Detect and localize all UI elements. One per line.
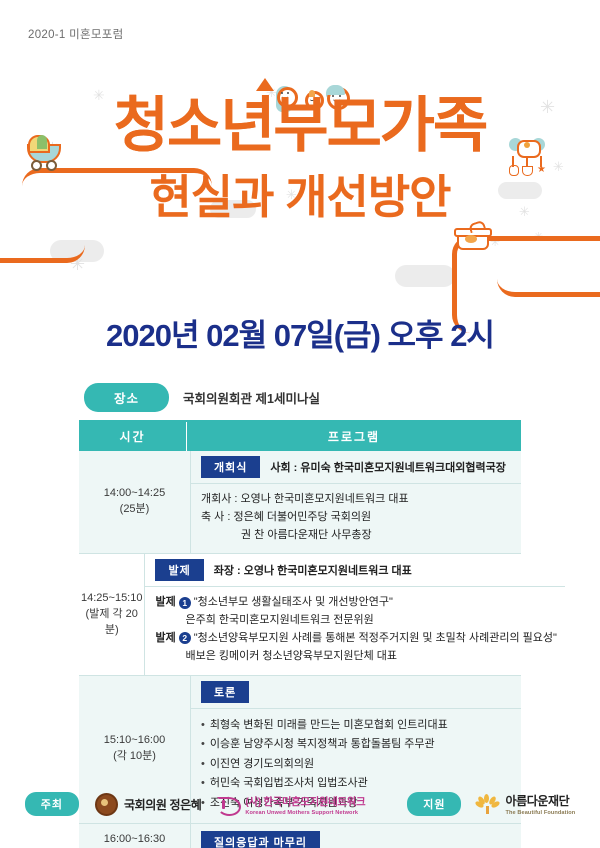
kicker-text: 2020-1 미혼모포럼 <box>28 26 124 42</box>
presentation-title: "청소년양육부모지원 사례를 통해본 적정주거지원 및 초밀착 사례관리의 필요… <box>194 632 557 644</box>
row-body: 발제1"청소년부모 생활실태조사 및 개선방안연구" 은주희 한국미혼모지원네트… <box>145 587 564 674</box>
presentation-line: 발제1"청소년부모 생활실태조사 및 개선방안연구" <box>155 594 556 612</box>
kumsn-logo-icon <box>217 795 239 814</box>
row-time: 14:00~14:25 (25분) <box>79 451 191 553</box>
row-program: 질의응답과 마무리 <box>191 824 521 848</box>
title-block: 청소년부모가족 현실과 개선방안 <box>0 96 600 220</box>
program-table: 시간 프로그램 14:00~14:25 (25분) 개회식 사회 : 유미숙 한… <box>79 420 521 848</box>
table-row: 14:00~14:25 (25분) 개회식 사회 : 유미숙 한국미혼모지원네트… <box>79 451 521 554</box>
row-body: 개회사 : 오영나 한국미혼모지원네트워크 대표 축 사 : 정은혜 더불어민주… <box>191 484 521 553</box>
band-text: 사회 : 유미숙 한국미혼모지원네트워크대외협력국장 <box>270 459 505 475</box>
header-time: 시간 <box>79 422 186 451</box>
host-name-2: (사) 한국미혼모지원네트워크 <box>245 796 365 808</box>
support-label: 지원 <box>407 792 461 816</box>
program-line: 개회사 : 오영나 한국미혼모지원네트워크 대표 <box>201 491 513 509</box>
row-time-duration: (발제 각 20분) <box>81 607 142 639</box>
status-badge: 토론 <box>201 681 249 703</box>
row-time-duration: (25분) <box>120 502 150 518</box>
support-name-1-sub: The Beautiful Foundation <box>505 810 575 816</box>
presenter-line: 은주희 한국미혼모지원네트워크 전문위원 <box>155 612 556 630</box>
host-logo-jeong: 국회의원 정은혜 <box>95 793 201 816</box>
row-band: 토론 <box>191 676 521 709</box>
table-row: 14:25~15:10 (발제 각 20분) 발제 좌장 : 오영나 한국미혼모… <box>79 554 521 675</box>
host-logo-kumsn: (사) 한국미혼모지원네트워크 Korean Unwed Mothers Sup… <box>217 792 365 816</box>
presentation-line: 발제2"청소년양육부모지원 사례를 통해본 적정주거지원 및 초밀착 사례관리의… <box>155 630 556 648</box>
row-program: 개회식 사회 : 유미숙 한국미혼모지원네트워크대외협력국장 개회사 : 오영나… <box>191 451 521 553</box>
host-name-2-sub: Korean Unwed Mothers Support Network <box>245 810 365 816</box>
row-time-range: 15:10~16:00 <box>104 733 165 749</box>
host-name-2-block: (사) 한국미혼모지원네트워크 Korean Unwed Mothers Sup… <box>245 792 365 816</box>
presentation-label: 발제 <box>155 596 175 608</box>
presentation-title: "청소년부모 생활실태조사 및 개선방안연구" <box>194 596 393 608</box>
support-name-1: 아름다운재단 <box>505 794 569 808</box>
presentation-label: 발제 <box>155 632 175 644</box>
row-time-duration: (각 10분) <box>113 749 156 765</box>
page-title: 청소년부모가족 <box>0 96 600 156</box>
row-band: 발제 좌장 : 오영나 한국미혼모지원네트워크 대표 <box>145 554 564 587</box>
page-subtitle: 현실과 개선방안 <box>0 174 600 220</box>
venue-value: 국회의원회관 제1세미나실 <box>183 388 320 407</box>
header-program: 프로그램 <box>186 422 521 451</box>
cloud-decoration <box>395 265 455 287</box>
table-row: 16:00~16:30 (30분) 질의응답과 마무리 <box>79 824 521 848</box>
status-badge: 발제 <box>155 559 203 581</box>
presentation-number: 2 <box>179 632 191 644</box>
row-time: 14:25~15:10 (발제 각 20분) <box>79 554 145 674</box>
status-badge: 개회식 <box>201 456 260 478</box>
footer: 주최 국회의원 정은혜 (사) 한국미혼모지원네트워크 Korean Unwed… <box>0 792 600 816</box>
row-time: 16:00~16:30 (30분) <box>79 824 191 848</box>
row-band: 개회식 사회 : 유미숙 한국미혼모지원네트워크대외협력국장 <box>191 451 521 484</box>
host-name-1: 국회의원 정은혜 <box>124 796 201 813</box>
venue-row: 장소 국회의원회관 제1세미나실 <box>84 383 320 412</box>
support-logo-beautiful: 아름다운재단 The Beautiful Foundation <box>477 792 575 816</box>
band-text: 좌장 : 오영나 한국미혼모지원네트워크 대표 <box>214 562 412 578</box>
status-badge: 질의응답과 마무리 <box>201 831 320 848</box>
row-time-range: 14:25~15:10 <box>81 591 142 607</box>
poster-root: ✳ ✳ ✳ ✳ ✳ ✳ ✳ ✳ ✳ ✳ ★ <box>0 0 600 848</box>
event-date: 2020년 02월 07일(금) 오후 2시 <box>0 310 600 355</box>
program-line: 축 사 : 정은혜 더불어민주당 국회의원 <box>201 509 513 527</box>
row-program: 발제 좌장 : 오영나 한국미혼모지원네트워크 대표 발제1"청소년부모 생활실… <box>145 554 564 674</box>
venue-label: 장소 <box>84 383 169 412</box>
panelist-item: 이승훈 남양주시청 복지정책과 통합돌봄팀 주무관 <box>201 735 513 755</box>
program-line: 권 찬 아름다운재단 사무총장 <box>201 527 513 545</box>
row-time-range: 16:00~16:30 <box>104 832 165 848</box>
row-band: 질의응답과 마무리 <box>191 824 521 848</box>
panelist-item: 최형숙 변화된 미래를 만드는 미혼모협회 인트리대표 <box>201 716 513 736</box>
seal-icon <box>95 793 118 816</box>
row-time-range: 14:00~14:25 <box>104 486 165 502</box>
presentation-number: 1 <box>179 597 191 609</box>
host-label: 주최 <box>25 792 79 816</box>
panelist-item: 이진연 경기도의회의원 <box>201 755 513 775</box>
support-name-block: 아름다운재단 The Beautiful Foundation <box>505 792 575 816</box>
table-header: 시간 프로그램 <box>79 422 521 451</box>
tree-icon <box>477 794 499 814</box>
presenter-line: 배보은 킹메이커 청소년양육부모지원단체 대표 <box>155 648 556 666</box>
